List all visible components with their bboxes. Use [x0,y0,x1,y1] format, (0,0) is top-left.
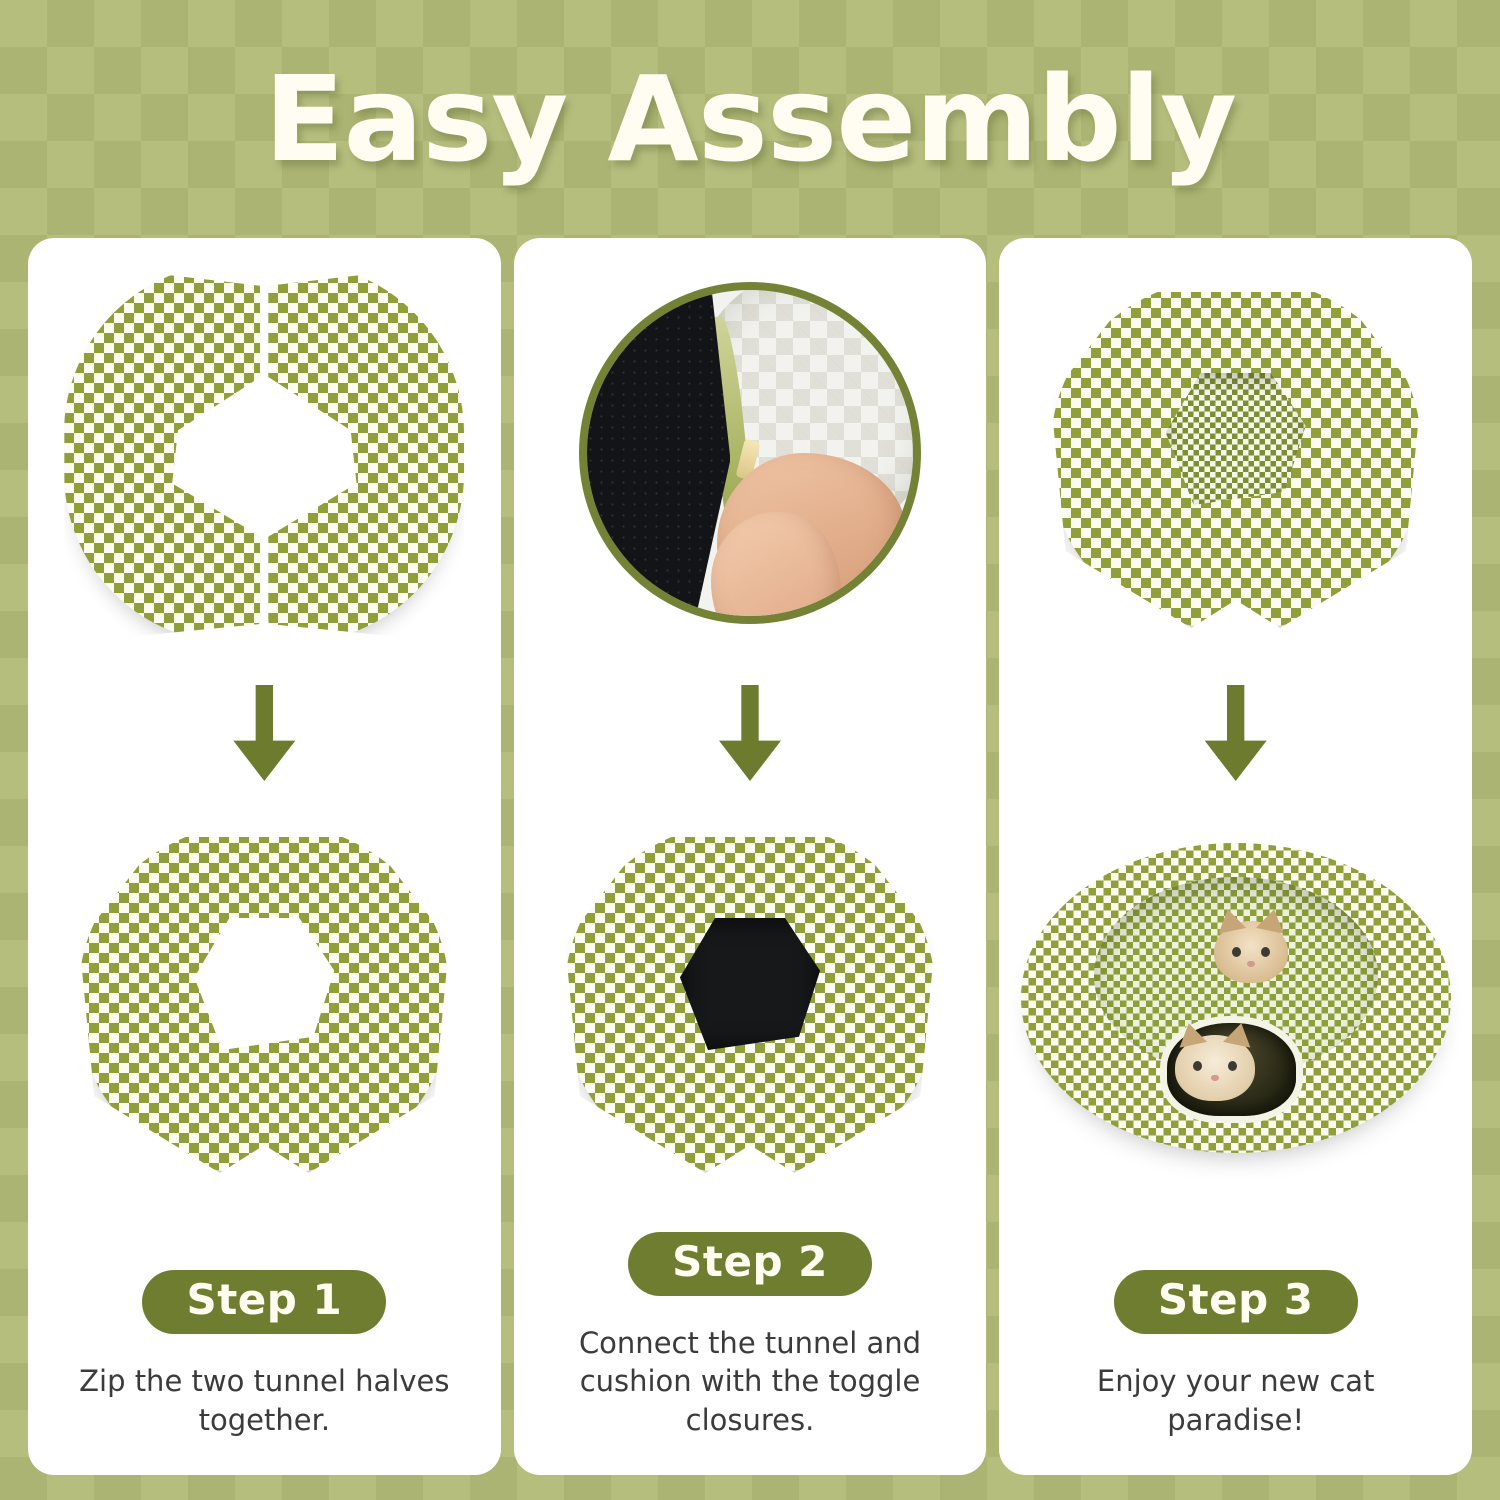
step-3-bottom-photo [999,798,1472,1198]
step-1-caption-block: Step 1 Zip the two tunnel halves togethe… [28,1270,501,1439]
cat-eye-left [1193,1061,1202,1071]
step-badge-1: Step 1 [142,1270,386,1334]
step-badge-3: Step 3 [1114,1270,1358,1334]
step-1-bottom-photo [28,798,501,1198]
steps-row: Step 1 Zip the two tunnel halves togethe… [28,238,1472,1475]
cat-eye-right [1228,1061,1237,1071]
down-arrow-icon [719,685,781,781]
assembled-tunnel-bed [1051,278,1421,628]
tunnel-bed-opening [1166,373,1306,505]
tunnel-ring-hole [194,918,334,1050]
cat-nose [1247,961,1255,967]
cat-ear-left [1175,1021,1207,1048]
step-badge-2: Step 2 [628,1232,872,1296]
zipped-tunnel-ring [79,823,449,1173]
cats-in-bed-illustration [1021,843,1451,1153]
cat-ear-left [1214,906,1246,933]
step-1-top-photo [28,238,501,668]
tunnel-with-cushion [565,823,935,1173]
black-cushion-center [680,918,820,1050]
step-3-caption-block: Step 3 Enjoy your new cat paradise! [999,1270,1472,1439]
step-2-top-photo [514,238,987,668]
step-2-bottom-photo [514,798,987,1198]
tunnel-halves-illustration [64,263,464,643]
cat-eye-left [1232,947,1241,957]
cat-ear-right [1223,1021,1255,1048]
cat-lower [1175,1035,1255,1101]
cat-head [1214,921,1288,983]
step-2-arrow-slot [514,668,987,798]
down-arrow-icon [1205,685,1267,781]
step-3-top-photo [999,238,1472,668]
step-3-arrow-slot [999,668,1472,798]
title-banner: Easy Assembly [0,0,1500,238]
step-1-arrow-slot [28,668,501,798]
tunnel-half-right [268,263,464,643]
step-card-1: Step 1 Zip the two tunnel halves togethe… [28,238,501,1475]
step-caption-2: Connect the tunnel and cushion with the … [550,1324,950,1439]
black-cushion-fabric [579,290,730,616]
toggle-closure-inset [579,282,921,624]
cat-nose [1211,1075,1219,1081]
infographic-page: Easy Assembly Step 1 Zip the two tu [0,0,1500,1500]
step-2-caption-block: Step 2 Connect the tunnel and cushion wi… [514,1232,987,1439]
step-caption-3: Enjoy your new cat paradise! [1036,1362,1436,1439]
step-card-3: Step 3 Enjoy your new cat paradise! [999,238,1472,1475]
cat-upper [1214,921,1288,983]
page-title: Easy Assembly [264,60,1236,178]
tunnel-half-left [64,263,260,643]
step-caption-1: Zip the two tunnel halves together. [64,1362,464,1439]
down-arrow-icon [233,685,295,781]
cat-head [1175,1035,1255,1101]
step-card-2: Step 2 Connect the tunnel and cushion wi… [514,238,987,1475]
cat-eye-right [1261,947,1270,957]
